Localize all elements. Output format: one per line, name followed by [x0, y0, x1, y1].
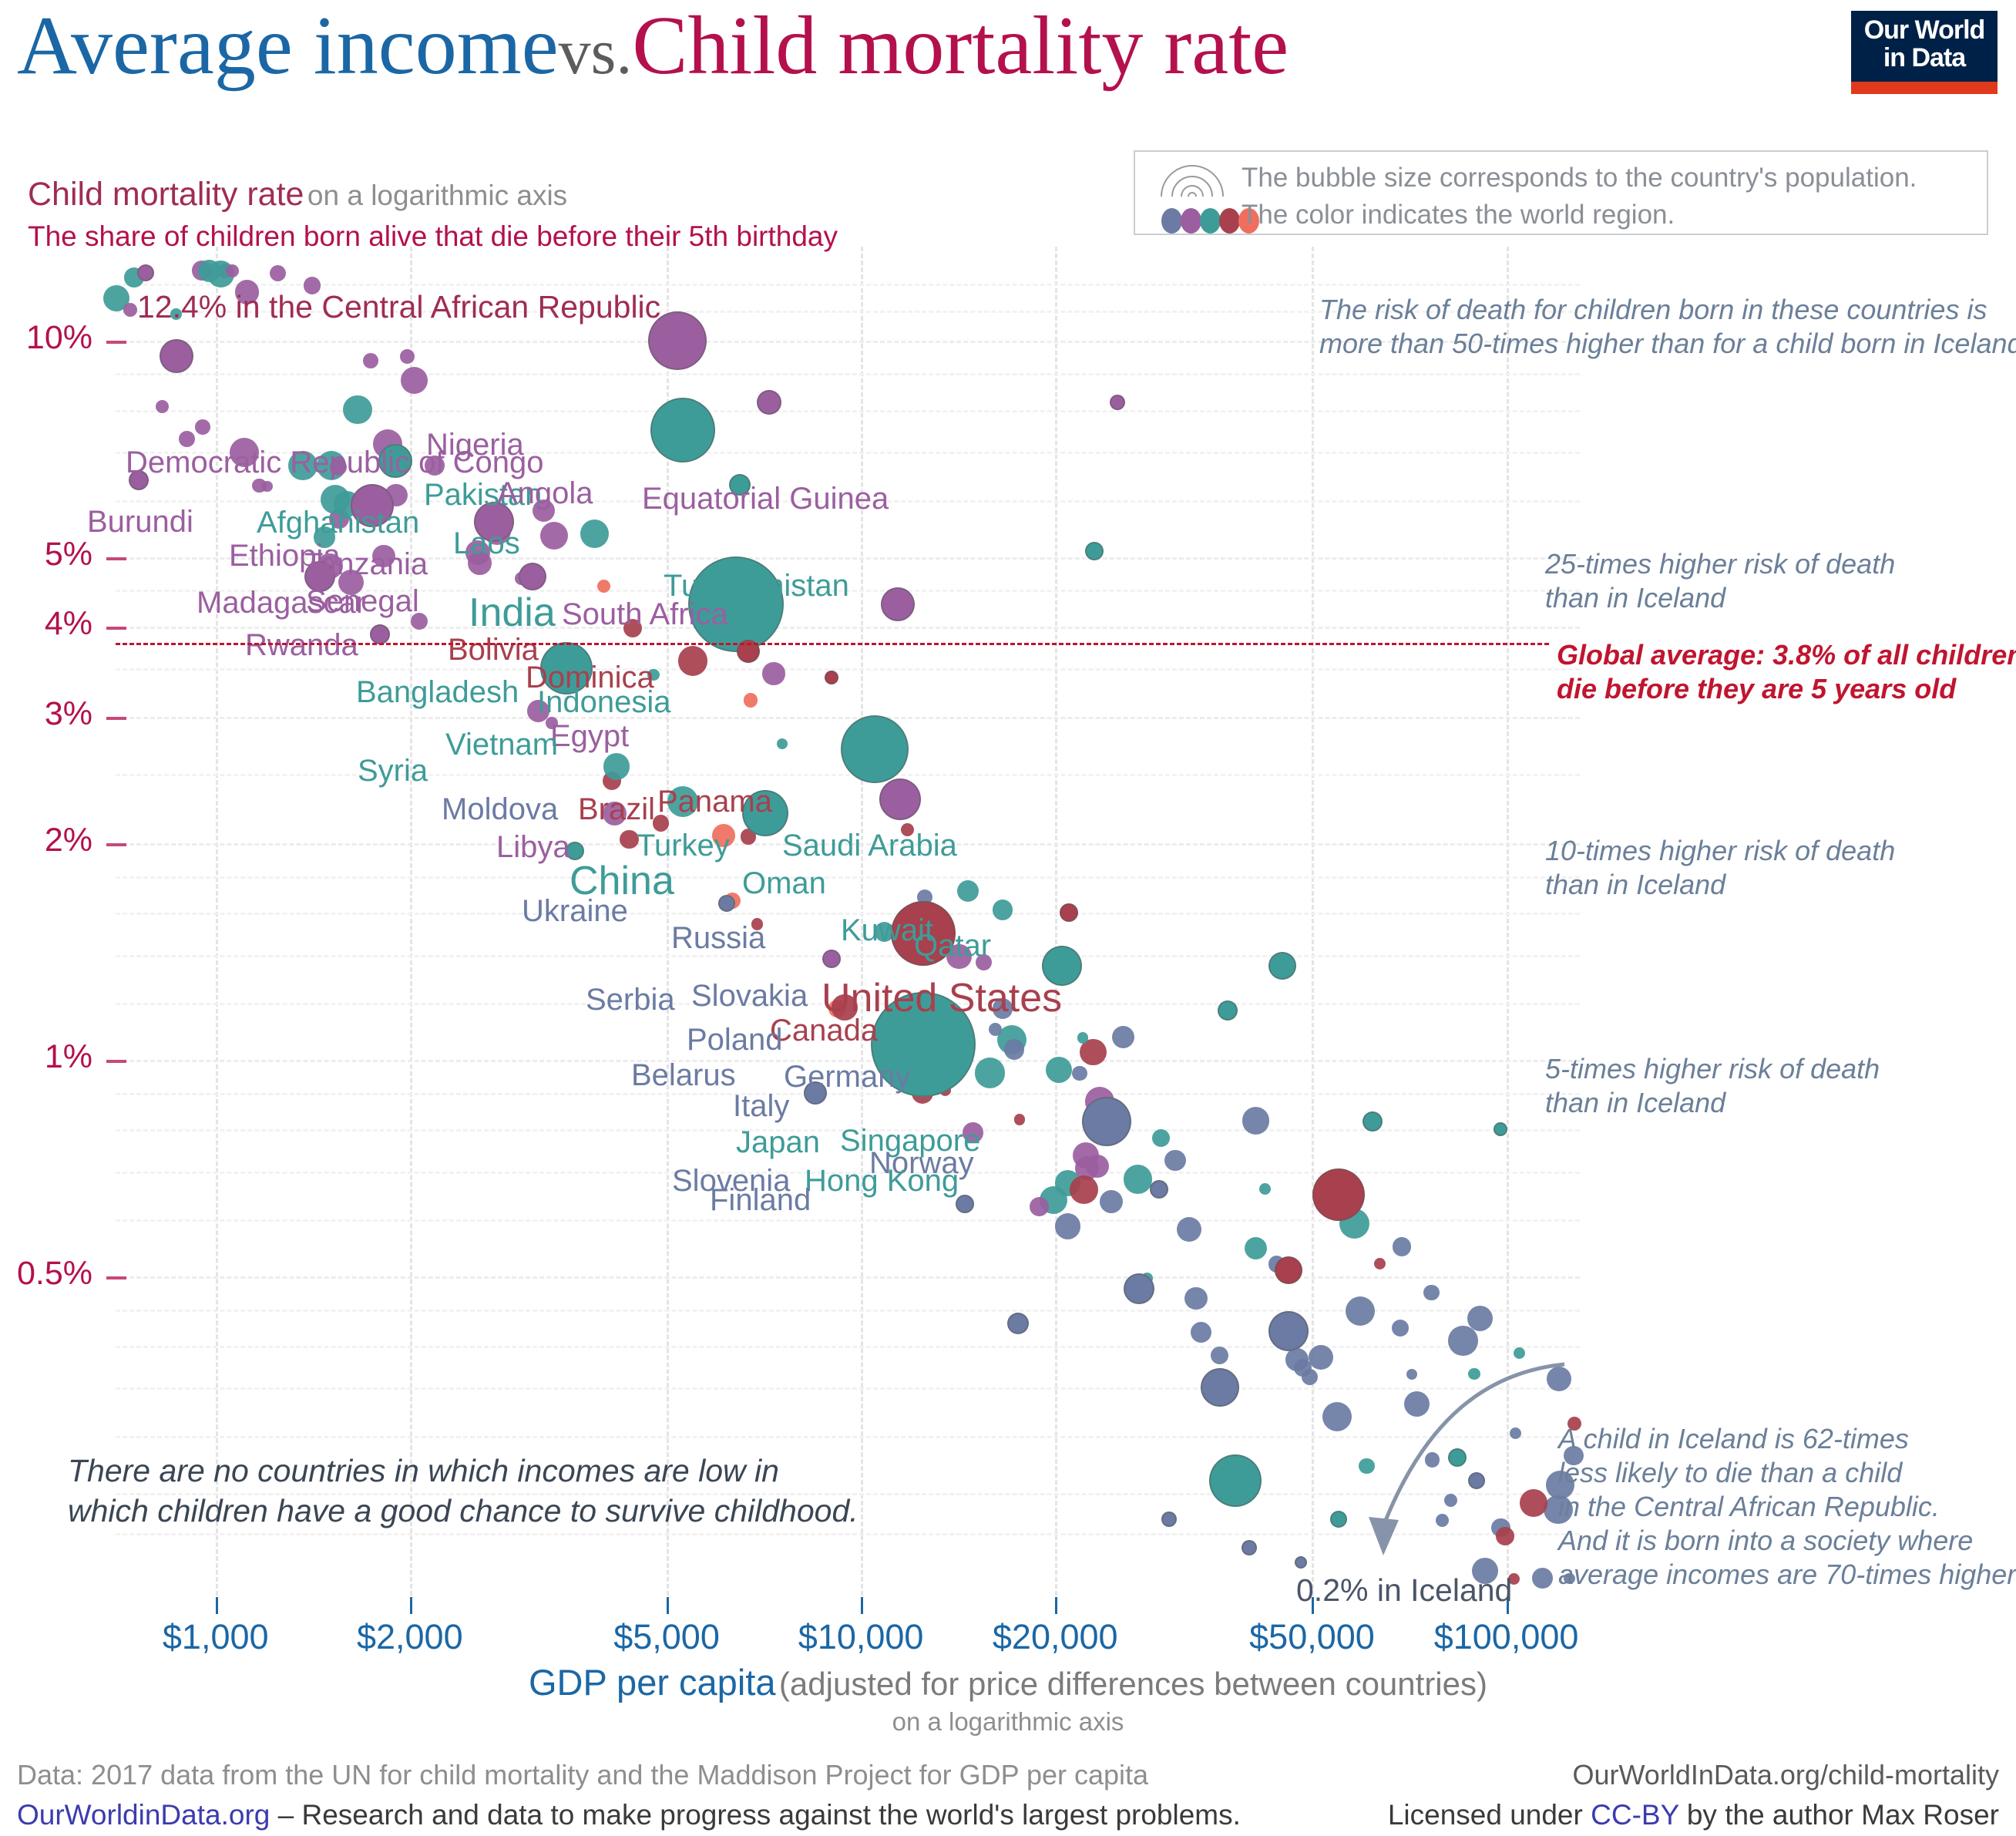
legend-color-label: The color indicates the world region. [1242, 200, 1675, 230]
title-vs: vs. [559, 16, 633, 88]
bubble[interactable] [401, 367, 428, 394]
region-dot-2 [1200, 208, 1221, 234]
annotation-iceland-line4: And it is born into a society where [1558, 1524, 2016, 1558]
bubble[interactable] [1030, 1197, 1049, 1216]
country-label-poland: Poland [687, 1023, 783, 1058]
country-label-afghanistan: Afghanistan [257, 506, 419, 540]
gridline-y-16 [116, 876, 1580, 879]
country-label-egypt: Egypt [550, 719, 629, 754]
bubble-germany[interactable] [1268, 1311, 1309, 1351]
bubble[interactable] [1073, 1142, 1099, 1169]
y-tick-label-1: 5% [0, 536, 92, 573]
annotation-global-average-line1: Global average: 3.8% of all children [1557, 638, 2016, 672]
footer-license: Licensed under CC-BY by the author Max R… [1388, 1799, 1999, 1831]
country-label-qatar: Qatar [914, 929, 991, 963]
region-dot-1 [1181, 208, 1201, 234]
bubble[interactable] [540, 522, 569, 550]
bubble[interactable] [1392, 1320, 1409, 1337]
gridline-y-15 [116, 774, 1580, 776]
bubble[interactable] [1177, 1217, 1201, 1242]
bubble[interactable] [226, 264, 239, 277]
country-label-tanzania: Tanzania [304, 547, 428, 582]
bubble[interactable] [580, 520, 609, 548]
bubble-dominica[interactable] [825, 671, 838, 684]
annotation-25x-line2: than in Iceland [1545, 581, 1895, 615]
bubble[interactable] [400, 349, 415, 364]
annotation-iceland-line2: less likely to die than a child [1558, 1456, 2016, 1490]
gridline-y-7 [116, 284, 1580, 286]
annotation-50x: The risk of death for children born in t… [1319, 293, 2016, 361]
annotation-10x-line2: than in Iceland [1545, 868, 1895, 902]
country-label-belarus: Belarus [631, 1058, 736, 1093]
country-label-laos: Laos [453, 526, 520, 561]
bubble[interactable] [744, 693, 758, 707]
iceland-arrow-icon [1233, 1349, 1572, 1588]
label-central-african-republic-value: 12.4% in the Central African Republic [137, 289, 660, 325]
page-title: Average incomevs.Child mortality rate [17, 5, 1289, 88]
bubble[interactable] [1100, 1190, 1123, 1213]
bubble[interactable] [198, 260, 220, 282]
bubble[interactable] [156, 400, 169, 413]
country-label-angola: Angola [497, 476, 593, 511]
bubble[interactable] [975, 1058, 1006, 1088]
y-tick-mark-5 [106, 1060, 126, 1063]
annotation-iceland-line1: A child in Iceland is 62-times [1558, 1422, 2016, 1456]
country-label-indonesia: Indonesia [537, 685, 670, 720]
country-label-italy: Italy [733, 1089, 789, 1124]
x-tick-mark-4 [1055, 1597, 1057, 1614]
y-tick-mark-2 [106, 627, 126, 630]
country-label-moldova: Moldova [442, 792, 558, 827]
country-label-germany: Germany [784, 1060, 911, 1095]
country-label-nigeria: Nigeria [426, 428, 524, 462]
bubble-senegal[interactable] [519, 563, 546, 590]
annotation-10x-line1: 10-times higher risk of death [1545, 834, 1895, 868]
annotation-no-countries-line1: There are no countries in which incomes … [68, 1451, 858, 1491]
annotation-5x: 5-times higher risk of death than in Ice… [1545, 1052, 1880, 1120]
bubble-united-states[interactable] [1312, 1169, 1365, 1221]
country-label-burundi: Burundi [87, 505, 193, 540]
bubble[interactable] [1077, 1032, 1089, 1044]
bubble[interactable] [1259, 1183, 1271, 1195]
bubble[interactable] [603, 753, 630, 779]
bubble-central-african-republic[interactable] [137, 264, 154, 281]
title-income: Average income [17, 0, 559, 92]
owid-logo-line1: Our World [1851, 11, 1998, 44]
bubble[interactable] [363, 353, 378, 368]
bubble-south-africa[interactable] [881, 587, 915, 621]
country-label-libya: Libya [496, 830, 570, 865]
country-label-bangladesh: Bangladesh [356, 675, 519, 710]
annotation-50x-line2: more than 50-times higher than for a chi… [1319, 327, 2016, 361]
global-average-line [116, 643, 1549, 645]
footer-license-pre: Licensed under [1388, 1799, 1591, 1831]
bubble[interactable] [762, 662, 785, 684]
bubble-poland[interactable] [1124, 1273, 1154, 1304]
x-tick-mark-0 [216, 1597, 218, 1614]
x-axis-title-note: (adjusted for price differences between … [779, 1666, 1487, 1702]
footer-owid-link[interactable]: OurWorldinData.org [17, 1799, 270, 1831]
bubble-libya[interactable] [822, 950, 841, 968]
y-tick-label-3: 3% [0, 695, 92, 733]
region-dot-0 [1161, 208, 1182, 234]
y-tick-mark-6 [106, 1276, 126, 1279]
bubble[interactable] [1004, 1039, 1025, 1060]
owid-logo-bar [1851, 82, 1998, 94]
bubble[interactable] [179, 431, 195, 447]
y-tick-label-5: 1% [0, 1038, 92, 1076]
gridline-y-25 [116, 1346, 1580, 1348]
annotation-no-countries-line2: which children have a good chance to sur… [68, 1491, 858, 1531]
annotation-global-average-line2: die before they are 5 years old [1557, 672, 2016, 706]
bubble[interactable] [1245, 1237, 1267, 1259]
country-label-finland: Finland [710, 1183, 811, 1218]
bubble[interactable] [957, 880, 979, 902]
bubble-russia[interactable] [1082, 1097, 1131, 1146]
country-label-india: India [469, 590, 556, 636]
footer-site-line: OurWorldinData.org – Research and data t… [17, 1799, 1241, 1831]
bubble-indonesia[interactable] [841, 715, 909, 783]
x-tick-mark-1 [410, 1597, 412, 1614]
country-label-hong-kong: Hong Kong [805, 1164, 959, 1199]
bubble-moldova[interactable] [718, 895, 735, 912]
chart-legend: The bubble size corresponds to the count… [1134, 150, 1988, 235]
x-axis-title: GDP per capita (adjusted for price diffe… [0, 1661, 2016, 1703]
y-tick-mark-1 [106, 557, 126, 560]
country-label-panama: Panama [657, 785, 772, 819]
country-label-vietnam: Vietnam [445, 728, 558, 762]
region-dot-3 [1219, 208, 1240, 234]
bubble[interactable] [1124, 1165, 1152, 1193]
bubble-egypt[interactable] [879, 778, 921, 820]
country-label-slovakia: Slovakia [691, 979, 808, 1014]
label-iceland-value: 0.2% in Iceland [1296, 1572, 1512, 1609]
x-axis-title-text: GDP per capita [529, 1662, 775, 1703]
country-label-canada: Canada [770, 1014, 878, 1048]
bubble[interactable] [123, 303, 137, 317]
footer-data-source: Data: 2017 data from the UN for child mo… [17, 1759, 1148, 1791]
country-label-russia: Russia [671, 921, 765, 956]
bubble-belarus[interactable] [1007, 1313, 1029, 1334]
owid-logo-line2: in Data [1851, 44, 1998, 72]
gridline-y-6 [116, 1276, 1580, 1279]
gridline-y-3 [116, 717, 1580, 719]
bubble[interactable] [678, 646, 708, 676]
x-tick-label-1: $2,000 [310, 1617, 510, 1657]
gridline-x-4 [1055, 247, 1057, 1596]
annotation-5x-line2: than in Iceland [1545, 1086, 1880, 1120]
x-tick-label-0: $1,000 [116, 1617, 316, 1657]
legend-bubble-size-label: The bubble size corresponds to the count… [1242, 163, 1917, 193]
country-label-equatorial-guinea: Equatorial Guinea [642, 482, 889, 516]
bubble-pakistan[interactable] [650, 398, 715, 462]
y-tick-label-4: 2% [0, 822, 92, 859]
owid-logo[interactable]: Our World in Data [1851, 11, 1998, 82]
bubble-angola[interactable] [757, 390, 781, 415]
bubble-equatorial-guinea[interactable] [1110, 395, 1125, 410]
bubble[interactable] [261, 481, 273, 493]
bubble-turkmenistan[interactable] [1085, 542, 1104, 560]
country-label-senegal: Senegal [306, 584, 419, 619]
y-axis-title-note: on a logarithmic axis [307, 180, 567, 211]
gridline-y-10 [116, 410, 1580, 412]
x-tick-label-5: $50,000 [1211, 1617, 1412, 1657]
x-tick-label-2: $5,000 [566, 1617, 767, 1657]
bubble[interactable] [1046, 1057, 1072, 1083]
annotation-iceland: A child in Iceland is 62-times less like… [1558, 1422, 2016, 1592]
bubble[interactable] [195, 419, 210, 435]
footer-url[interactable]: OurWorldInData.org/child-mortality [1572, 1759, 1999, 1791]
bubble-slovenia[interactable] [1161, 1512, 1177, 1527]
x-tick-label-6: $100,000 [1406, 1617, 1607, 1657]
bubble[interactable] [1242, 1107, 1269, 1134]
bubble-democratic-republic-of-congo[interactable] [160, 339, 193, 373]
country-label-japan: Japan [736, 1125, 820, 1160]
bubble[interactable] [1070, 1175, 1099, 1205]
footer-license-post: by the author Max Roser [1679, 1799, 1999, 1831]
y-tick-label-0: 10% [0, 319, 92, 357]
bubble-saudi-arabia[interactable] [1268, 952, 1296, 980]
country-label-saudi-arabia: Saudi Arabia [782, 829, 957, 863]
x-axis-subtitle: on a logarithmic axis [0, 1707, 2016, 1737]
footer-ccby-link[interactable]: CC-BY [1591, 1799, 1678, 1831]
y-tick-mark-3 [106, 717, 126, 720]
bubble[interactable] [1346, 1296, 1375, 1326]
annotation-25x-line1: 25-times higher risk of death [1545, 547, 1895, 581]
nested-arcs-icon [1157, 164, 1228, 198]
bubble-oman[interactable] [1218, 1000, 1238, 1021]
bubble-rwanda[interactable] [370, 624, 390, 644]
annotation-10x: 10-times higher risk of death than in Ic… [1545, 834, 1895, 902]
bubble[interactable] [1374, 1258, 1386, 1269]
y-tick-label-2: 4% [0, 605, 92, 643]
gridline-y-9 [116, 373, 1580, 375]
annotation-no-countries: There are no countries in which incomes … [68, 1451, 858, 1531]
bubble[interactable] [1211, 1347, 1228, 1364]
bubble[interactable] [1152, 1129, 1170, 1147]
bubble-canada[interactable] [1275, 1256, 1302, 1284]
bubble[interactable] [1055, 1213, 1081, 1239]
y-tick-mark-4 [106, 843, 126, 846]
gridline-y-18 [116, 955, 1580, 957]
bubble[interactable] [1423, 1285, 1439, 1300]
country-label-serbia: Serbia [586, 983, 675, 1017]
annotation-50x-line1: The risk of death for children born in t… [1319, 293, 2016, 327]
bubble[interactable] [343, 395, 372, 425]
bubble-panama[interactable] [1060, 903, 1078, 922]
title-mortality: Child mortality rate [632, 0, 1289, 92]
bubble[interactable] [1184, 1287, 1208, 1310]
bubble[interactable] [1112, 1026, 1134, 1048]
bubble[interactable] [777, 738, 788, 749]
country-label-rwanda: Rwanda [245, 628, 358, 663]
x-tick-label-3: $10,000 [761, 1617, 961, 1657]
scatter-plot-area[interactable]: 10%5%4%3%2%1%0.5% Democratic Republic of… [0, 247, 2016, 1603]
bubble[interactable] [270, 265, 286, 281]
y-tick-label-6: 0.5% [0, 1255, 92, 1293]
country-label-brazil: Brazil [578, 792, 655, 827]
bubble-slovakia[interactable] [1150, 1180, 1168, 1199]
footer-tagline: – Research and data to make progress aga… [270, 1799, 1241, 1831]
bubble[interactable] [993, 900, 1013, 920]
bubble[interactable] [1393, 1237, 1411, 1256]
y-axis-title: Child mortality rate on a logarithmic ax… [28, 176, 567, 214]
annotation-global-average: Global average: 3.8% of all children die… [1557, 638, 2016, 706]
page-header: Average incomevs.Child mortality rate Ou… [0, 0, 2016, 127]
bubble[interactable] [1191, 1322, 1211, 1343]
country-label-ukraine: Ukraine [522, 894, 628, 929]
bubble-kuwait[interactable] [1362, 1111, 1383, 1132]
x-tick-mark-2 [667, 1597, 669, 1614]
bubble[interactable] [1072, 1066, 1087, 1081]
annotation-25x: 25-times higher risk of death than in Ic… [1545, 547, 1895, 615]
annotation-iceland-line3: in the Central African Republic. [1558, 1490, 2016, 1524]
annotation-5x-line1: 5-times higher risk of death [1545, 1052, 1880, 1086]
country-label-syria: Syria [358, 754, 428, 789]
bubble[interactable] [1164, 1150, 1185, 1171]
x-tick-mark-3 [861, 1597, 863, 1614]
gridline-y-14 [116, 668, 1580, 671]
country-label-south-africa: South Africa [562, 597, 728, 632]
bubble[interactable] [1014, 1114, 1025, 1125]
bubble-qatar[interactable] [1494, 1122, 1507, 1136]
country-label-oman: Oman [742, 866, 826, 901]
y-tick-mark-0 [106, 341, 126, 344]
y-axis-title-text: Child mortality rate [28, 176, 304, 213]
annotation-iceland-line5: average incomes are 70-times higher. [1558, 1558, 2016, 1592]
x-tick-label-4: $20,000 [955, 1617, 1155, 1657]
